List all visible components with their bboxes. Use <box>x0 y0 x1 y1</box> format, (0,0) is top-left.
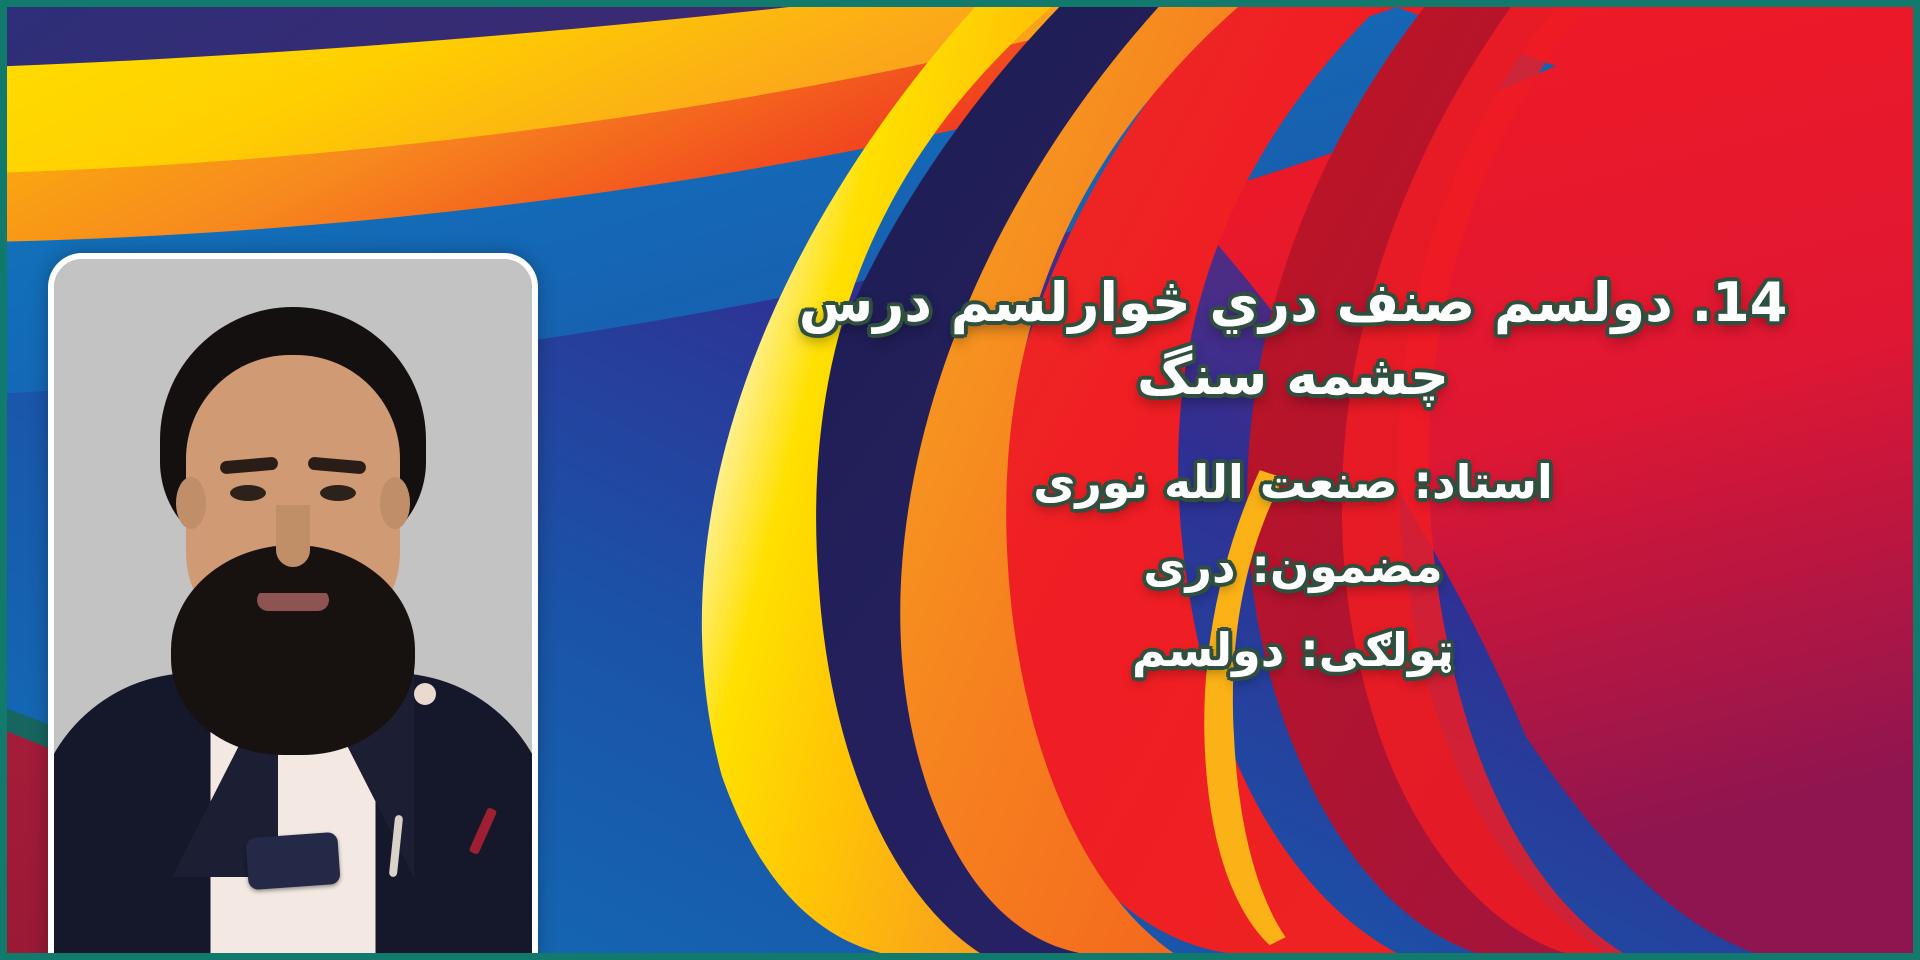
teacher-photo-card <box>48 253 538 960</box>
portrait-mustache <box>234 571 352 593</box>
teacher-portrait <box>54 259 532 960</box>
slide-text-block: 14. دولسم صنف دري څوارلسم درس چشمه سنگ ا… <box>733 267 1853 673</box>
subject-line: مضمون: دری <box>733 543 1853 589</box>
portrait-lapel-pin <box>414 683 436 705</box>
portrait-nose <box>276 505 310 567</box>
portrait-eye-right <box>320 485 356 501</box>
teacher-line: استاد: صنعت الله نوری <box>733 459 1853 505</box>
portrait-ear-left <box>176 477 206 529</box>
grade-line: ټولګی: دولسم <box>733 627 1853 673</box>
portrait-ear-right <box>380 477 410 529</box>
portrait-name-badge <box>245 832 340 890</box>
page-title: 14. دولسم صنف دري څوارلسم درس چشمه سنگ <box>733 267 1853 413</box>
portrait-eye-left <box>230 485 266 501</box>
presentation-slide: 14. دولسم صنف دري څوارلسم درس چشمه سنگ ا… <box>0 0 1920 960</box>
